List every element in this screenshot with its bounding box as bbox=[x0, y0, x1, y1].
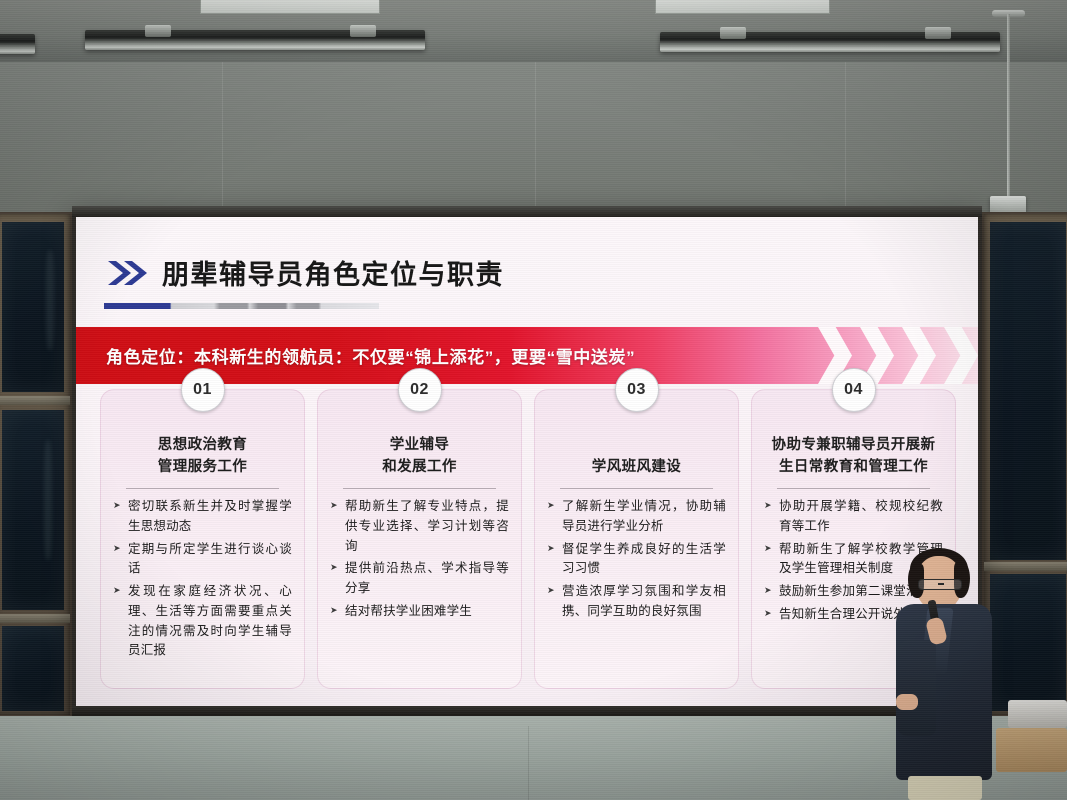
title-underline-rule bbox=[104, 303, 379, 309]
screen-top-frame bbox=[72, 206, 982, 217]
card-title-line1: 协助专兼职辅导员开展新 bbox=[764, 434, 943, 456]
list-item: 督促学生养成良好的生活学习习惯 bbox=[547, 540, 726, 580]
list-item: 提供前沿热点、学术指导等分享 bbox=[330, 559, 509, 599]
card-title-01: 思想政治教育 管理服务工作 bbox=[113, 434, 292, 479]
list-item: 帮助新生了解专业特点，提供专业选择、学习计划等咨询 bbox=[330, 497, 509, 556]
projector-pole bbox=[1007, 14, 1010, 200]
wall-seam-mid bbox=[535, 62, 536, 212]
lower-wall-seam bbox=[528, 726, 529, 800]
card-03[interactable]: 03 学风班风建设 了解新生学业情况，协助辅导员进行学业分析 督促学生养成良好的… bbox=[534, 389, 739, 689]
card-badge-03: 03 bbox=[615, 368, 659, 412]
card-title-line1: 思想政治教育 bbox=[113, 434, 292, 456]
card-separator-02 bbox=[343, 488, 497, 489]
presenter-person bbox=[880, 548, 1010, 800]
card-bullets-03: 了解新生学业情况，协助辅导员进行学业分析 督促学生养成良好的生活学习习惯 营造浓… bbox=[547, 497, 726, 622]
wall-seam-left bbox=[222, 62, 223, 212]
classroom-scene: 朋辈辅导员角色定位与职责 角色定位：本科新生的领航员：不仅要“锦上添花”，更要“… bbox=[0, 0, 1067, 800]
card-bullets-02: 帮助新生了解专业特点，提供专业选择、学习计划等咨询 提供前沿热点、学术指导等分享… bbox=[330, 497, 509, 622]
card-title-03: 学风班风建设 bbox=[547, 434, 726, 479]
card-title-02: 学业辅导 和发展工作 bbox=[330, 434, 509, 479]
role-cards: 01 思想政治教育 管理服务工作 密切联系新生并及时掌握学生思想动态 定期与所定… bbox=[100, 389, 956, 689]
presenter-hand-lower bbox=[896, 694, 918, 710]
presenter-trousers bbox=[908, 776, 982, 800]
chalkboard-left bbox=[0, 212, 72, 717]
card-separator-03 bbox=[560, 488, 714, 489]
presenter-arm bbox=[896, 640, 936, 736]
card-badge-04: 04 bbox=[832, 368, 876, 412]
card-title-line2: 管理服务工作 bbox=[113, 456, 292, 478]
card-title-04: 协助专兼职辅导员开展新 生日常教育和管理工作 bbox=[764, 434, 943, 479]
list-item: 了解新生学业情况，协助辅导员进行学业分析 bbox=[547, 497, 726, 537]
list-item: 定期与所定学生进行谈心谈话 bbox=[113, 540, 292, 580]
card-badge-01: 01 bbox=[181, 368, 225, 412]
card-title-line1: 学业辅导 bbox=[330, 434, 509, 456]
card-badge-02: 02 bbox=[398, 368, 442, 412]
list-item: 协助开展学籍、校规校纪教育等工作 bbox=[764, 497, 943, 537]
card-01[interactable]: 01 思想政治教育 管理服务工作 密切联系新生并及时掌握学生思想动态 定期与所定… bbox=[100, 389, 305, 689]
card-separator-01 bbox=[126, 488, 280, 489]
page-title: 朋辈辅导员角色定位与职责 bbox=[162, 262, 504, 289]
ceiling-panel-left bbox=[200, 0, 380, 14]
list-item: 发现在家庭经济状况、心理、生活等方面需要重点关注的情况需及时向学生辅导员汇报 bbox=[113, 582, 292, 661]
wall-seam-right bbox=[845, 62, 846, 212]
list-item: 密切联系新生并及时掌握学生思想动态 bbox=[113, 497, 292, 537]
projection-screen: 朋辈辅导员角色定位与职责 角色定位：本科新生的领航员：不仅要“锦上添花”，更要“… bbox=[72, 206, 982, 718]
card-title-line1: 学风班风建设 bbox=[547, 456, 726, 478]
slide-title-row: 朋辈辅导员角色定位与职责 bbox=[106, 259, 504, 292]
ceiling-light-far-left bbox=[0, 34, 35, 54]
glasses-icon bbox=[918, 579, 962, 590]
card-02[interactable]: 02 学业辅导 和发展工作 帮助新生了解专业特点，提供专业选择、学习计划等咨询 … bbox=[317, 389, 522, 689]
list-item: 营造浓厚学习氛围和学友相携、同学互助的良好氛围 bbox=[547, 582, 726, 622]
card-separator-04 bbox=[777, 488, 931, 489]
card-bullets-01: 密切联系新生并及时掌握学生思想动态 定期与所定学生进行谈心谈话 发现在家庭经济状… bbox=[113, 497, 292, 661]
ceiling-light-left bbox=[85, 30, 425, 50]
side-table bbox=[996, 728, 1067, 772]
ceiling-light-right bbox=[660, 32, 1000, 52]
double-chevron-icon bbox=[106, 259, 150, 292]
lectern-device bbox=[1008, 700, 1067, 728]
card-title-line2: 和发展工作 bbox=[330, 456, 509, 478]
slide-canvas: 朋辈辅导员角色定位与职责 角色定位：本科新生的领航员：不仅要“锦上添花”，更要“… bbox=[76, 217, 978, 706]
ceiling-panel-right bbox=[655, 0, 830, 14]
card-title-line2: 生日常教育和管理工作 bbox=[764, 456, 943, 478]
list-item: 结对帮扶学业困难学生 bbox=[330, 602, 509, 622]
upper-wall bbox=[0, 62, 1067, 212]
